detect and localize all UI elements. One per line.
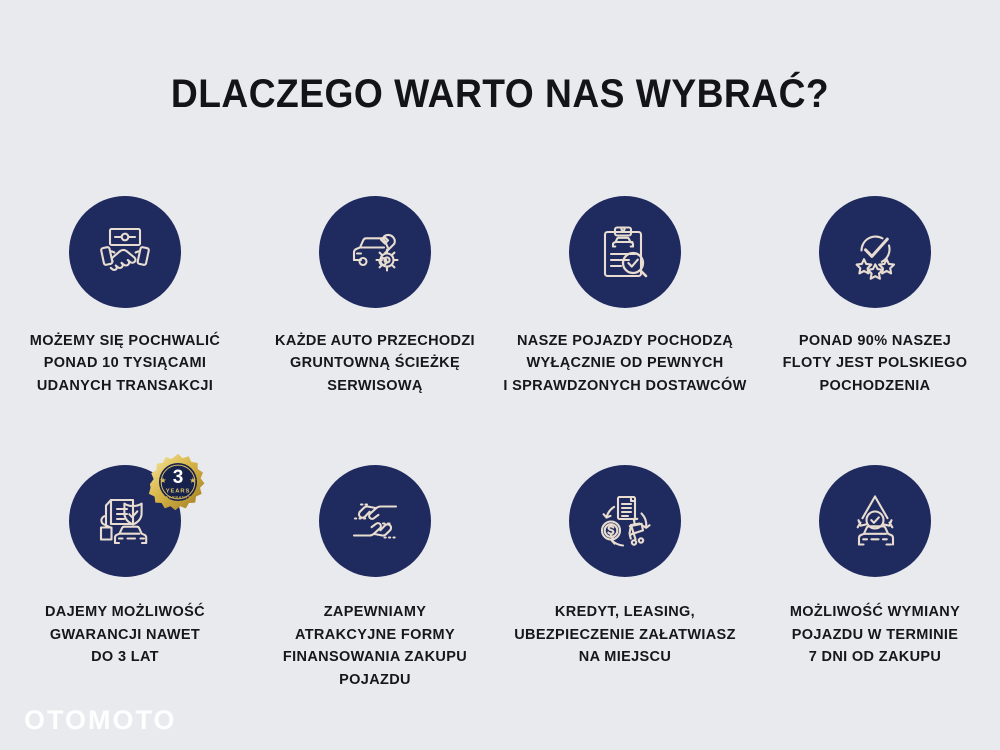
- features-grid: MOŻEMY SIĘ POCHWALIĆ PONAD 10 TYSIĄCAMI …: [0, 196, 1000, 691]
- icon-circle: [69, 196, 181, 308]
- finance-cycle-icon: [589, 485, 661, 557]
- icon-circle: [569, 465, 681, 577]
- badge-number: 3: [173, 467, 184, 488]
- features-row-1: MOŻEMY SIĘ POCHWALIĆ PONAD 10 TYSIĄCAMI …: [0, 196, 1000, 397]
- gold-warranty-badge-icon: 3 ★ ★ YEARS WARRANTY: [149, 453, 207, 511]
- promo-banner: DLACZEGO WARTO NAS WYBRAĆ?: [0, 0, 1000, 750]
- badge-line2: WARRANTY: [165, 496, 191, 500]
- features-row-2: 3 ★ ★ YEARS WARRANTY DAJEMY MOŻLIWOŚĆ GW…: [0, 465, 1000, 691]
- car-service-wrench-gear-icon: [339, 216, 411, 288]
- feature-item: PONAD 90% NASZEJ FLOTY JEST POLSKIEGO PO…: [750, 196, 1000, 397]
- svg-text:★: ★: [159, 476, 166, 485]
- icon-circle: [319, 196, 431, 308]
- feature-item: NASZE POJAZDY POCHODZĄ WYŁĄCZNIE OD PEWN…: [500, 196, 750, 397]
- feature-item: ZAPEWNIAMY ATRAKCYJNE FORMY FINANSOWANIA…: [250, 465, 500, 691]
- icon-wrapper: [569, 196, 681, 308]
- otomoto-watermark: OTOMOTO: [24, 705, 177, 736]
- icon-circle: [319, 465, 431, 577]
- svg-text:★: ★: [189, 476, 196, 485]
- feature-item: 3 ★ ★ YEARS WARRANTY DAJEMY MOŻLIWOŚĆ GW…: [0, 465, 250, 691]
- feature-caption: ZAPEWNIAMY ATRAKCYJNE FORMY FINANSOWANIA…: [250, 601, 500, 691]
- feature-item: MOŻEMY SIĘ POCHWALIĆ PONAD 10 TYSIĄCAMI …: [0, 196, 250, 397]
- feature-caption: NASZE POJAZDY POCHODZĄ WYŁĄCZNIE OD PEWN…: [500, 330, 750, 397]
- feature-caption: KAŻDE AUTO PRZECHODZI GRUNTOWNĄ ŚCIEŻKĘ …: [250, 330, 500, 397]
- check-stars-quality-icon: [839, 216, 911, 288]
- icon-circle: [569, 196, 681, 308]
- icon-wrapper: [819, 465, 931, 577]
- handshake-money-icon: [89, 216, 161, 288]
- icon-wrapper: [69, 196, 181, 308]
- icon-wrapper: [319, 465, 431, 577]
- feature-caption: MOŻEMY SIĘ POCHWALIĆ PONAD 10 TYSIĄCAMI …: [0, 330, 250, 397]
- clipboard-car-inspection-icon: [589, 216, 661, 288]
- icon-wrapper: [819, 196, 931, 308]
- icon-circle: [819, 465, 931, 577]
- feature-caption: DAJEMY MOŻLIWOŚĆ GWARANCJI NAWET DO 3 LA…: [0, 601, 250, 668]
- icon-wrapper: [569, 465, 681, 577]
- feature-caption: MOŻLIWOŚĆ WYMIANY POJAZDU W TERMINIE 7 D…: [750, 601, 1000, 668]
- icon-circle: [819, 196, 931, 308]
- hands-exchange-card-icon: [339, 485, 411, 557]
- feature-caption: PONAD 90% NASZEJ FLOTY JEST POLSKIEGO PO…: [750, 330, 1000, 397]
- car-exchange-check-icon: [839, 485, 911, 557]
- icon-wrapper: [319, 196, 431, 308]
- feature-item: KAŻDE AUTO PRZECHODZI GRUNTOWNĄ ŚCIEŻKĘ …: [250, 196, 500, 397]
- page-title: DLACZEGO WARTO NAS WYBRAĆ?: [35, 72, 965, 117]
- feature-caption: KREDYT, LEASING, UBEZPIECZENIE ZAŁATWIAS…: [500, 601, 750, 668]
- badge-line1: YEARS: [166, 489, 191, 495]
- icon-wrapper: 3 ★ ★ YEARS WARRANTY: [69, 465, 181, 577]
- feature-item: KREDYT, LEASING, UBEZPIECZENIE ZAŁATWIAS…: [500, 465, 750, 691]
- feature-item: MOŻLIWOŚĆ WYMIANY POJAZDU W TERMINIE 7 D…: [750, 465, 1000, 691]
